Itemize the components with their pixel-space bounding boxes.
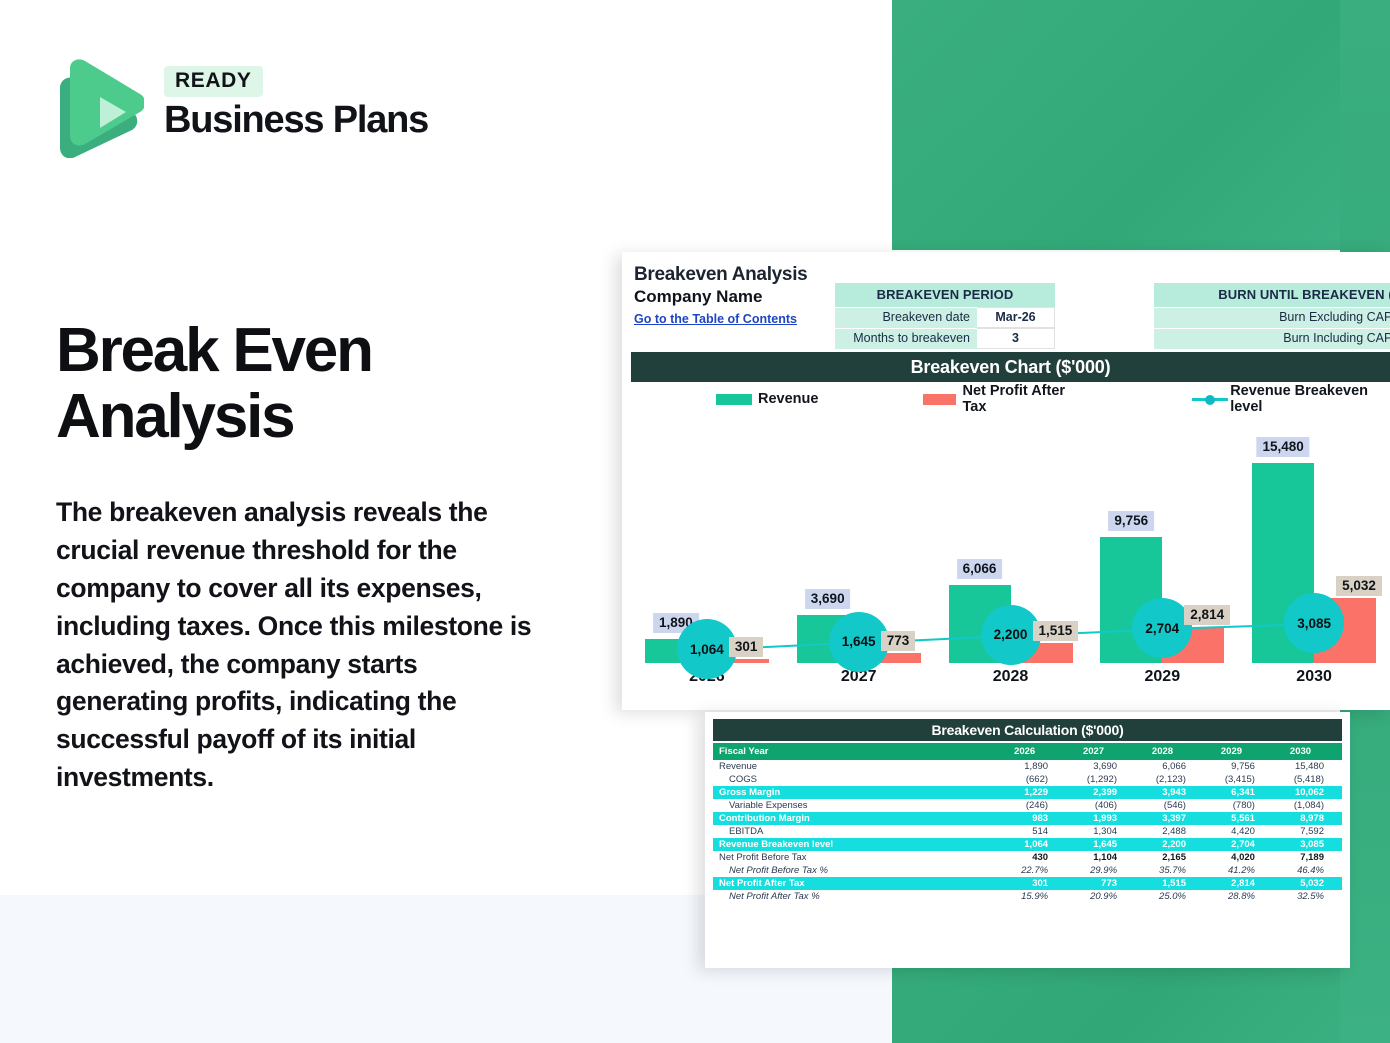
x-axis-label-2030: 2030 [1296,668,1332,686]
table-header-year-2030: 2030 [1273,743,1342,760]
table-cell-2027: 29.9% [1066,864,1135,877]
table-cell-2027: 1,993 [1066,812,1135,825]
burn-box-header: BURN UNTIL BREAKEVEN ($'000) [1154,283,1390,307]
legend-swatch-revenue-icon [716,394,752,405]
table-row: Net Profit After Tax %15.9%20.9%25.0%28.… [713,890,1342,903]
table-row: Revenue Breakeven level1,0641,6452,2002,… [713,838,1342,851]
table-row-label: Revenue Breakeven level [713,838,997,851]
background-block-green-bottom [892,968,1390,1043]
table-header-year-2027: 2027 [1066,743,1135,760]
legend-label-breakeven: Revenue Breakeven level [1230,383,1390,415]
legend-item-net-profit-after-tax[interactable]: Net Profit After Tax [923,383,1082,415]
background-block-green-top [892,0,1390,250]
logo-brand-name: Business Plans [164,101,428,141]
burn-including-capex-label: Burn Including CAPEX [1154,328,1390,349]
logo: READY Business Plans [56,58,436,162]
label-npat-2027: 773 [881,631,916,651]
legend-item-revenue[interactable]: Revenue [716,391,818,407]
table-row-label: Revenue [713,760,997,773]
table-cell-2027: 773 [1066,877,1135,890]
table-cell-2026: 514 [997,825,1066,838]
play-triangle-logo-icon [56,58,144,158]
table-header-row: Fiscal Year20262027202820292030 [713,743,1342,760]
breakeven-date-label: Breakeven date [835,307,977,328]
label-revenue-2028: 6,066 [957,559,1003,579]
logo-ready-badge: READY [164,66,263,97]
legend-swatch-breakeven-line-icon [1192,394,1225,405]
table-cell-2029: 4,020 [1204,851,1273,864]
breakeven-period-box: BREAKEVEN PERIOD Breakeven date Mar-26 M… [835,283,1055,349]
table-cell-2030: 10,062 [1273,786,1342,799]
chart-x-axis-labels: 20262027202820292030 [631,668,1390,696]
table-header-year-2026: 2026 [997,743,1066,760]
table-cell-2029: 28.8% [1204,890,1273,903]
months-to-breakeven-value[interactable]: 3 [977,328,1055,349]
table-header-year-2029: 2029 [1204,743,1273,760]
table-cell-2026: 1,890 [997,760,1066,773]
table-cell-2027: 1,645 [1066,838,1135,851]
table-cell-2028: (2,123) [1135,773,1204,786]
breakeven-calculation-panel: Breakeven Calculation ($'000) Fiscal Yea… [705,712,1350,968]
table-cell-2030: 7,592 [1273,825,1342,838]
table-cell-2027: 3,690 [1066,760,1135,773]
table-header-fiscal-year: Fiscal Year [713,743,997,760]
label-revenue-2027: 3,690 [805,589,851,609]
table-cell-2026: (246) [997,799,1066,812]
burn-excluding-capex-row: Burn Excluding CAPEX (11.0) [1154,307,1390,328]
table-row-label: COGS [713,773,997,786]
table-row: Net Profit After Tax3017731,5152,8145,03… [713,877,1342,890]
table-cell-2030: 8,978 [1273,812,1342,825]
legend-swatch-npat-icon [923,394,956,405]
table-cell-2028: 2,165 [1135,851,1204,864]
table-cell-2029: (780) [1204,799,1273,812]
table-cell-2026: (662) [997,773,1066,786]
table-row: Net Profit Before Tax4301,1042,1654,0207… [713,851,1342,864]
sheet-header: Breakeven Analysis Company Name Go to th… [622,252,1390,344]
burn-excluding-capex-label: Burn Excluding CAPEX [1154,307,1390,328]
slide-root: READY Business Plans Break Even Analysis… [0,0,1390,1043]
table-cell-2028: 3,943 [1135,786,1204,799]
table-cell-2028: 35.7% [1135,864,1204,877]
table-row: Variable Expenses(246)(406)(546)(780)(1,… [713,799,1342,812]
table-cell-2029: 2,814 [1204,877,1273,890]
table-cell-2027: (406) [1066,799,1135,812]
burn-including-capex-row: Burn Including CAPEX (48.5) [1154,328,1390,349]
table-cell-2026: 983 [997,812,1066,825]
table-cell-2028: 2,200 [1135,838,1204,851]
breakeven-bubble-2030: 3,085 [1284,593,1344,653]
table-row-label: Contribution Margin [713,812,997,825]
table-cell-2027: 1,104 [1066,851,1135,864]
table-cell-2028: 6,066 [1135,760,1204,773]
table-cell-2028: 3,397 [1135,812,1204,825]
table-row-label: Net Profit After Tax [713,877,997,890]
label-npat-2029: 2,814 [1184,605,1230,625]
table-cell-2028: 1,515 [1135,877,1204,890]
label-npat-2028: 1,515 [1033,621,1079,641]
legend-label-npat: Net Profit After Tax [962,383,1082,415]
table-row-label: Net Profit Before Tax % [713,864,997,877]
table-row: COGS(662)(1,292)(2,123)(3,415)(5,418) [713,773,1342,786]
table-row-label: EBITDA [713,825,997,838]
table-cell-2026: 15.9% [997,890,1066,903]
months-to-breakeven-row: Months to breakeven 3 [835,328,1055,349]
table-row: EBITDA5141,3042,4884,4207,592 [713,825,1342,838]
table-cell-2028: 2,488 [1135,825,1204,838]
table-cell-2028: (546) [1135,799,1204,812]
table-cell-2030: (1,084) [1273,799,1342,812]
label-revenue-2029: 9,756 [1108,511,1154,531]
table-row-label: Net Profit After Tax % [713,890,997,903]
table-cell-2026: 301 [997,877,1066,890]
table-cell-2028: 25.0% [1135,890,1204,903]
breakeven-date-value[interactable]: Mar-26 [977,307,1055,328]
table-cell-2026: 1,064 [997,838,1066,851]
table-cell-2027: (1,292) [1066,773,1135,786]
months-to-breakeven-label: Months to breakeven [835,328,977,349]
table-cell-2030: (5,418) [1273,773,1342,786]
page-title: Break Even Analysis [56,318,576,449]
table-cell-2027: 20.9% [1066,890,1135,903]
chart-legend: Revenue Net Profit After Tax Revenue Bre… [631,385,1390,413]
chart-banner-title: Breakeven Chart ($'000) [631,352,1390,382]
breakeven-bubble-2028: 2,200 [981,605,1041,665]
table-header-year-2028: 2028 [1135,743,1204,760]
table-row: Contribution Margin9831,9933,3975,5618,9… [713,812,1342,825]
table-cell-2026: 430 [997,851,1066,864]
table-cell-2030: 3,085 [1273,838,1342,851]
chart-plot-area: 1,8903011,0643,6907731,6456,0661,5152,20… [631,418,1390,663]
table-cell-2030: 7,189 [1273,851,1342,864]
breakeven-period-header: BREAKEVEN PERIOD [835,283,1055,307]
table-cell-2030: 46.4% [1273,864,1342,877]
table-cell-2029: 9,756 [1204,760,1273,773]
table-cell-2029: 6,341 [1204,786,1273,799]
table-row-label: Gross Margin [713,786,997,799]
table-row-label: Net Profit Before Tax [713,851,997,864]
breakeven-calculation-table: Fiscal Year20262027202820292030Revenue1,… [713,743,1342,903]
label-npat-2030: 5,032 [1336,576,1382,596]
table-of-contents-link[interactable]: Go to the Table of Contents [634,312,797,326]
table-cell-2029: 5,561 [1204,812,1273,825]
table-row: Revenue1,8903,6906,0669,75615,480 [713,760,1342,773]
table-cell-2030: 5,032 [1273,877,1342,890]
page-body-text: The breakeven analysis reveals the cruci… [56,494,551,797]
table-row: Gross Margin1,2292,3993,9436,34110,062 [713,786,1342,799]
legend-item-breakeven-level[interactable]: Revenue Breakeven level [1192,383,1390,415]
logo-text: READY Business Plans [164,66,428,141]
x-axis-label-2028: 2028 [993,668,1029,686]
breakeven-bubble-2026: 1,064 [677,619,737,679]
breakeven-bubble-2029: 2,704 [1132,598,1192,658]
table-cell-2027: 1,304 [1066,825,1135,838]
table-cell-2026: 1,229 [997,786,1066,799]
table-row-label: Variable Expenses [713,799,997,812]
table-cell-2030: 15,480 [1273,760,1342,773]
legend-label-revenue: Revenue [758,391,818,407]
breakeven-chart-panel: Breakeven Analysis Company Name Go to th… [622,252,1390,710]
breakeven-bubble-2027: 1,645 [829,612,889,672]
x-axis-label-2029: 2029 [1145,668,1181,686]
table-cell-2029: 2,704 [1204,838,1273,851]
table-cell-2027: 2,399 [1066,786,1135,799]
label-revenue-2030: 15,480 [1256,437,1309,457]
table-banner-title: Breakeven Calculation ($'000) [713,719,1342,741]
table-cell-2029: (3,415) [1204,773,1273,786]
table-row: Net Profit Before Tax %22.7%29.9%35.7%41… [713,864,1342,877]
burn-until-breakeven-box: BURN UNTIL BREAKEVEN ($'000) Burn Exclud… [1154,283,1390,349]
table-cell-2029: 41.2% [1204,864,1273,877]
breakeven-date-row: Breakeven date Mar-26 [835,307,1055,328]
table-cell-2030: 32.5% [1273,890,1342,903]
table-cell-2029: 4,420 [1204,825,1273,838]
table-cell-2026: 22.7% [997,864,1066,877]
label-npat-2026: 301 [729,637,764,657]
